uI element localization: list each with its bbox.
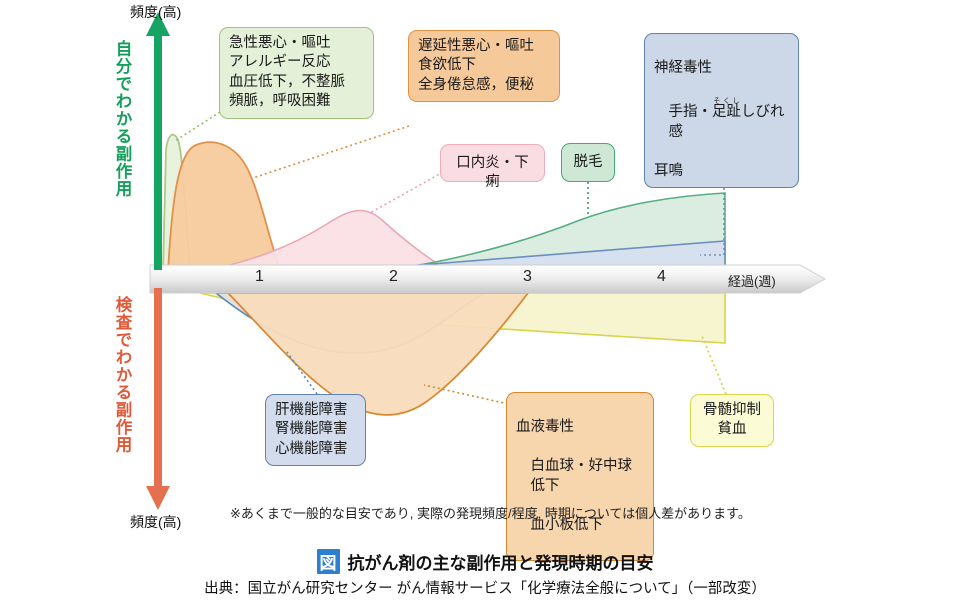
time-tick-2: 2 [389,268,398,286]
time-tick-3: 3 [523,268,532,286]
leader-delayed-nausea [253,126,409,178]
callout-neurotoxicity: 神経毒性 手指・足趾そくししびれ感 耳鳴 [644,33,799,188]
neurotoxicity-line3: 耳鳴 [654,163,683,179]
time-tick-1: 1 [255,268,264,286]
ruby-sokushi: 足趾そくし [712,104,741,120]
figure-badge: 図 [317,549,340,574]
footnote: ※あくまで一般的な目安であり, 実際の発現頻度/程度, 時期については個人差があ… [230,503,751,522]
figure-caption-title: 抗がん剤の主な副作用と発現時期の目安 [348,554,654,573]
callout-alopecia: 脱毛 [561,143,615,182]
hematologic-line2: 白血球・好中球低下 [516,457,644,496]
upper-region-label: 自分でわかる副作用 [110,40,134,198]
leader-stomatitis [370,172,443,213]
hematologic-title: 血液毒性 [516,419,574,435]
time-tick-4: 4 [657,268,666,286]
leader-acute-nausea [175,112,220,141]
axis-top-label: 頻度(高) [130,2,181,22]
neurotoxicity-line2: 手指・足趾そくししびれ感 [654,98,789,142]
neurotoxicity-title: 神経毒性 [654,60,712,76]
callout-myelosuppression: 骨髄抑制 貧血 [690,394,774,447]
axis-bottom-label: 頻度(高) [130,512,181,532]
figure-source: 出典：国立がん研究センター がん情報サービス「化学療法全般について」（一部改変） [0,577,970,598]
lower-region-label: 検査でわかる副作用 [110,296,134,454]
callout-delayed-nausea: 遅延性悪心・嘔吐 食欲低下 全身倦怠感，便秘 [408,30,560,102]
figure-container: 頻度(高) 頻度(高) 自分でわかる副作用 検査でわかる副作用 1 2 3 4 … [0,0,970,604]
curve-delayed-nausea [168,142,281,272]
callout-acute-nausea: 急性悪心・嘔吐 アレルギー反応 血圧低下，不整脈 頻脈，呼吸困難 [219,27,374,119]
figure-caption: 図抗がん剤の主な副作用と発現時期の目安 [0,549,970,574]
callout-organ-dysfunction: 肝機能障害 腎機能障害 心機能障害 [265,394,366,466]
time-axis-label: 経過(週) [728,271,776,290]
time-axis-bar [150,265,825,293]
callout-stomatitis-diarrhea: 口内炎・下痢 [440,144,545,182]
lower-axis-arrow [146,288,170,510]
callout-hematologic-toxicity: 血液毒性 白血球・好中球低下 血小板低下 [506,392,654,561]
leader-myelosuppression [702,336,726,394]
